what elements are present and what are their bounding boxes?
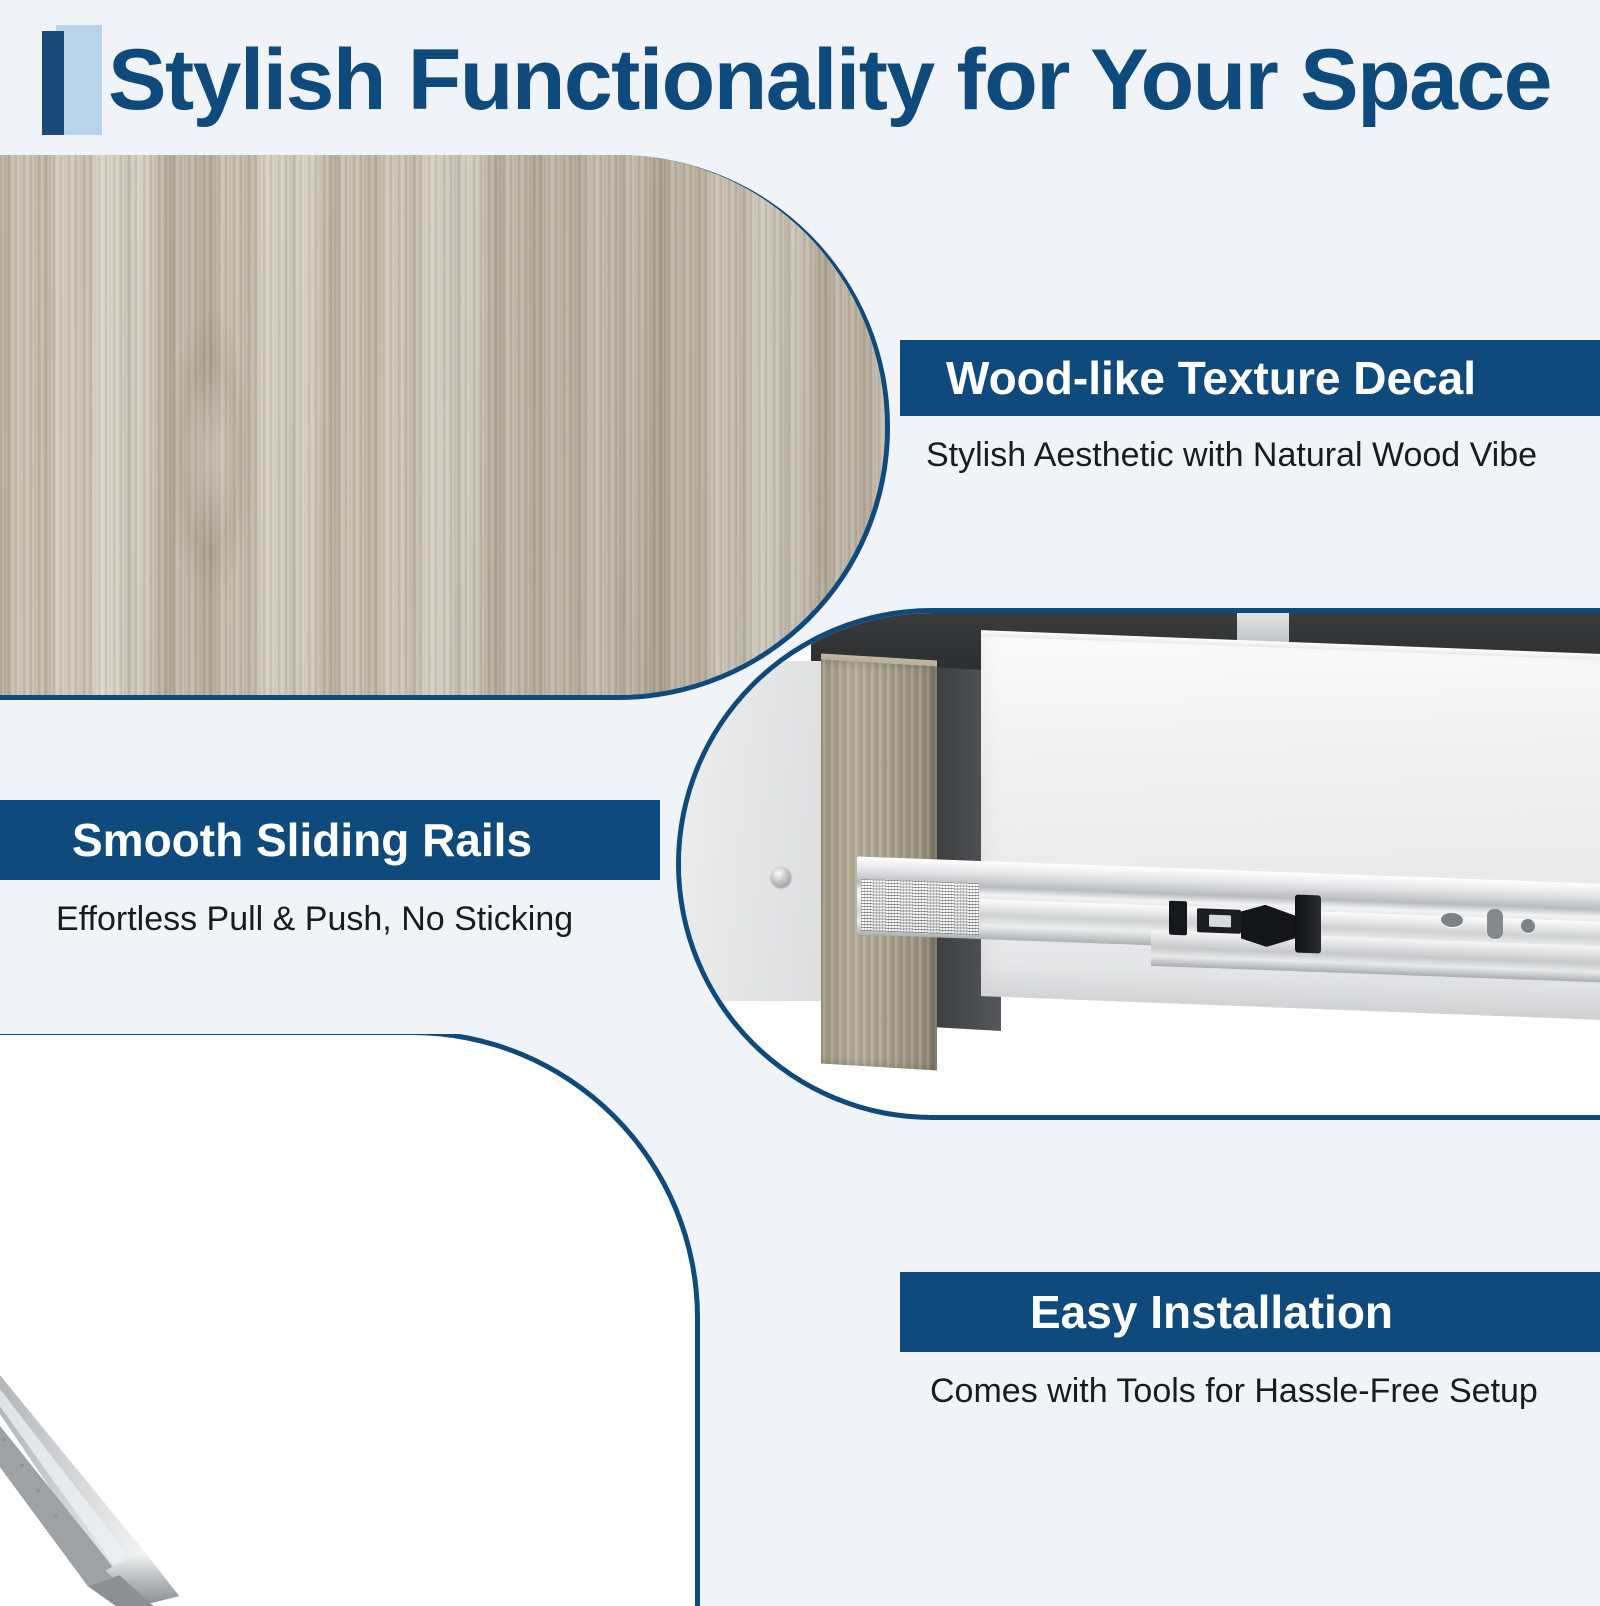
feature-title-band: Smooth Sliding Rails xyxy=(0,800,660,880)
slide-rail-black-tab xyxy=(1169,901,1187,936)
slide-rail-ball-bearing-cage xyxy=(861,879,979,935)
slide-rail-stopper xyxy=(1295,895,1321,954)
page-header: Stylish Functionality for Your Space xyxy=(0,0,1600,160)
feature-callout-easy-installation: Easy Installation Comes with Tools for H… xyxy=(900,1272,1600,1430)
feature-subtitle: Stylish Aesthetic with Natural Wood Vibe xyxy=(900,416,1600,494)
accent-dark-bar xyxy=(42,31,64,135)
drawer-scene xyxy=(681,613,1600,1115)
allen-key-illustration xyxy=(0,1035,695,1606)
hex-key-long-arm xyxy=(0,1126,143,1586)
feature-title-band: Easy Installation xyxy=(900,1272,1600,1352)
drawer-rail-image-panel xyxy=(676,608,1600,1120)
title-accent-mark xyxy=(42,25,112,135)
hex-key-image-panel xyxy=(0,1030,700,1606)
feature-callout-wood-like-texture-decal: Wood-like Texture Decal Stylish Aestheti… xyxy=(900,340,1600,494)
slide-rail-slider-highlight xyxy=(1209,915,1231,928)
rail-mounting-hole xyxy=(1521,919,1535,934)
feature-callout-smooth-sliding-rails: Smooth Sliding Rails Effortless Pull & P… xyxy=(0,800,660,958)
rail-mounting-slot xyxy=(1487,909,1503,940)
page-title: Stylish Functionality for Your Space xyxy=(108,31,1551,130)
feature-title-band: Wood-like Texture Decal xyxy=(900,340,1600,416)
rail-mounting-hole xyxy=(1441,913,1463,928)
mounting-screw-icon xyxy=(771,867,791,887)
feature-subtitle: Effortless Pull & Push, No Sticking xyxy=(0,880,660,958)
left-band-backdrop xyxy=(0,958,600,1034)
feature-subtitle: Comes with Tools for Hassle-Free Setup xyxy=(900,1352,1600,1430)
